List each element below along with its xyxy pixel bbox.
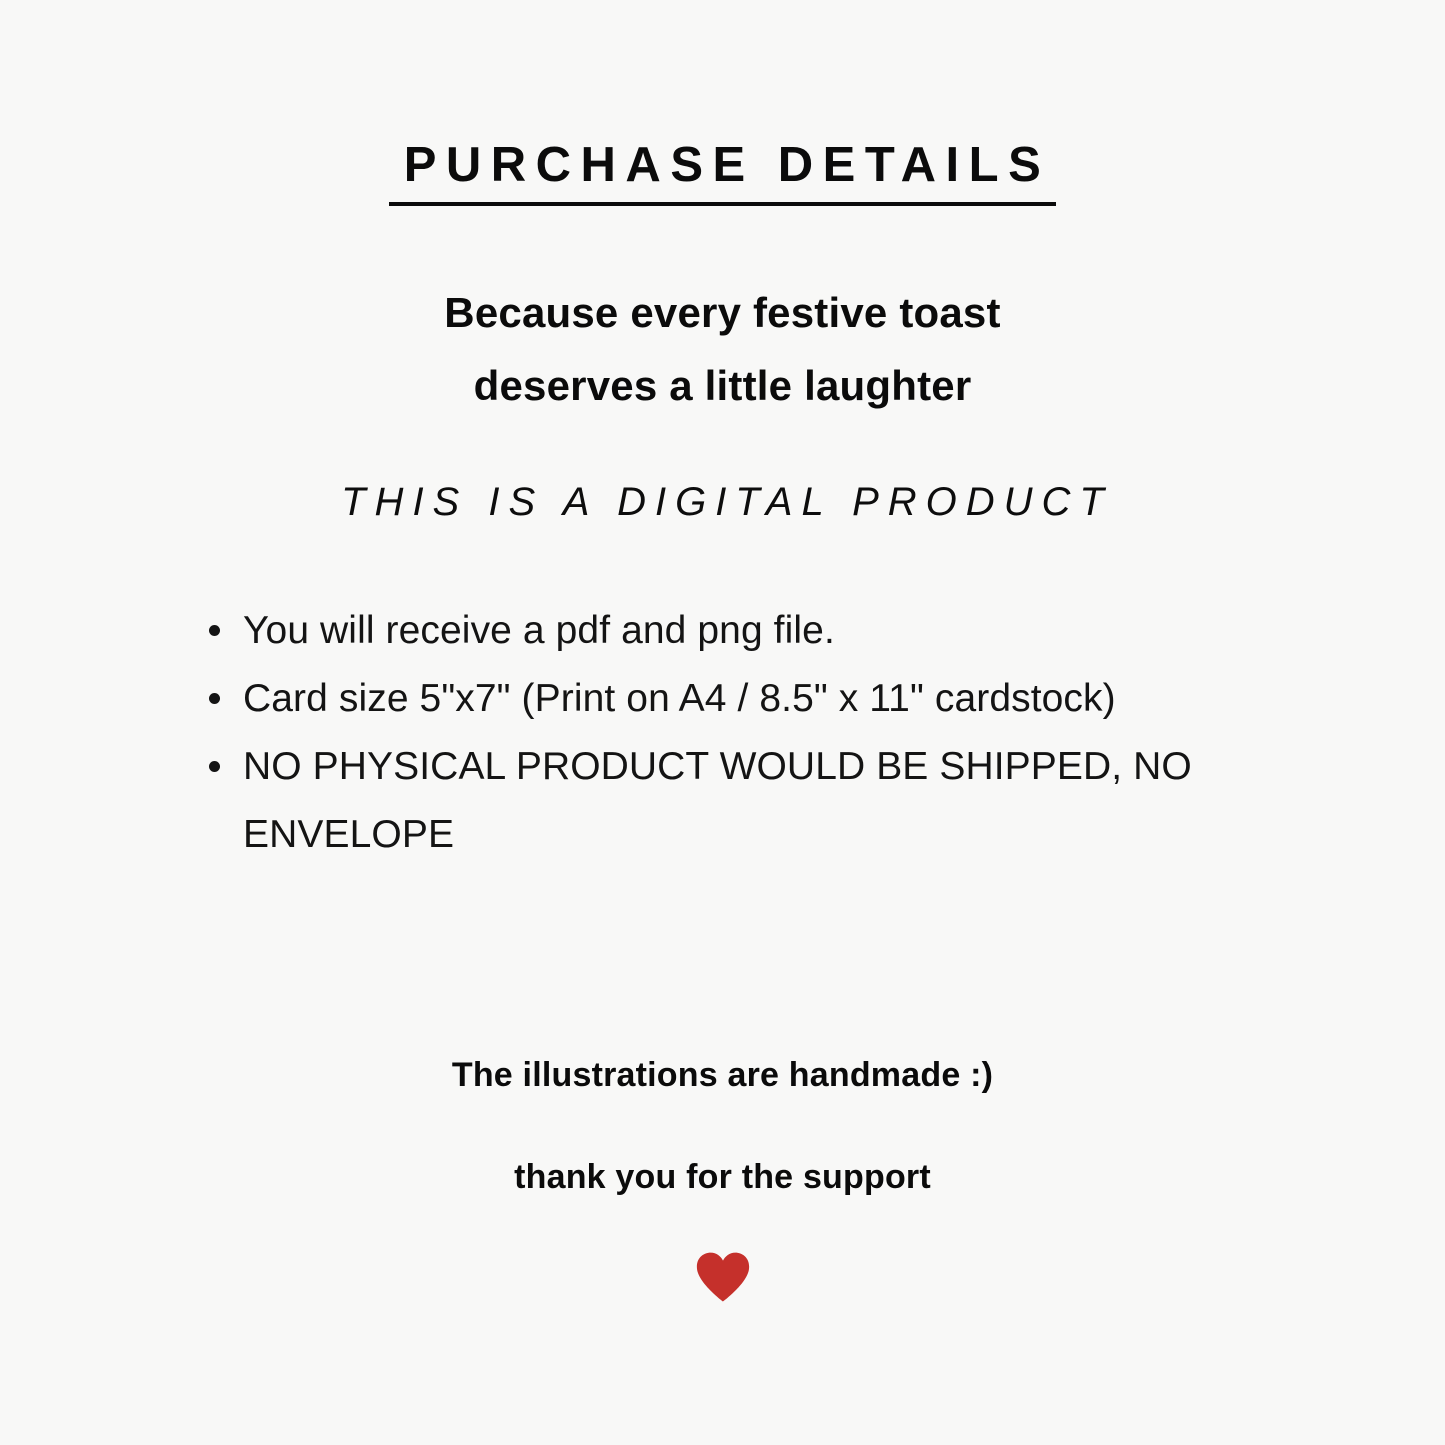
purchase-details-page: PURCHASE DETAILS Because every festive t… [0, 0, 1445, 1445]
page-title: PURCHASE DETAILS [389, 138, 1057, 206]
digital-product-notice: THIS IS A DIGITAL PRODUCT [0, 478, 1445, 526]
heading-block: PURCHASE DETAILS [0, 138, 1445, 206]
details-bullet-list: You will receive a pdf and png file. Car… [205, 597, 1295, 869]
handmade-note: The illustrations are handmade :) [0, 1053, 1445, 1097]
heart-container [0, 1252, 1445, 1302]
list-item-label: You will receive a pdf and png file. [243, 609, 835, 652]
digital-notice-block: THIS IS A DIGITAL PRODUCT [0, 478, 1445, 526]
tagline-line-2: deserves a little laughter [0, 349, 1445, 422]
tagline-block: Because every festive toast deserves a l… [0, 276, 1445, 422]
list-item: Card size 5"x7" (Print on A4 / 8.5" x 11… [205, 665, 1295, 733]
bullet-dot-icon [209, 761, 220, 772]
list-item: You will receive a pdf and png file. [205, 597, 1295, 665]
list-item-label: NO PHYSICAL PRODUCT WOULD BE SHIPPED, NO… [243, 745, 1192, 856]
heart-icon [696, 1252, 750, 1302]
bullet-dot-icon [209, 693, 220, 704]
list-item: NO PHYSICAL PRODUCT WOULD BE SHIPPED, NO… [205, 733, 1295, 869]
bullet-dot-icon [209, 625, 220, 636]
thanks-note: thank you for the support [0, 1155, 1445, 1199]
tagline-line-1: Because every festive toast [0, 276, 1445, 349]
list-item-label: Card size 5"x7" (Print on A4 / 8.5" x 11… [243, 677, 1116, 720]
